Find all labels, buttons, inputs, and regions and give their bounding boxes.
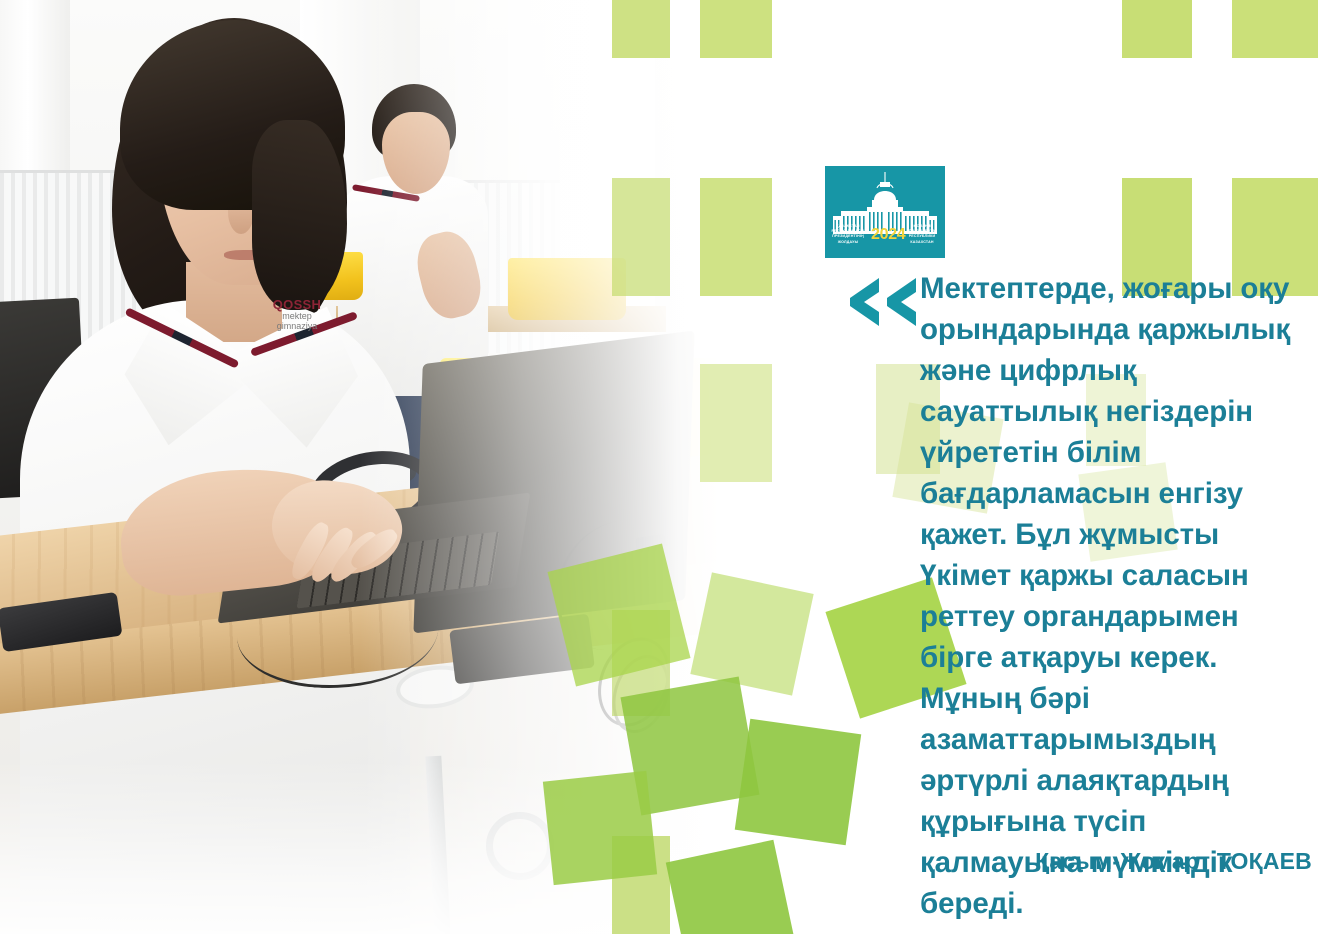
school-shirt-logo: QOSSH mektep gimnaziya xyxy=(258,298,336,354)
green-square xyxy=(1122,0,1192,58)
shirt-logo-line1: QOSSH xyxy=(258,298,336,312)
green-square xyxy=(700,0,772,58)
green-square xyxy=(612,0,670,58)
presidential-address-emblem: ҚАЗАҚСТАН РЕСПУБЛИКАСЫ ПРЕЗИДЕНТІНІҢ ЖОЛ… xyxy=(825,166,945,258)
green-square xyxy=(612,178,670,296)
green-square xyxy=(700,178,772,296)
green-square xyxy=(700,364,772,482)
quote-text: Мектептерде, жоғары оқу орындарында қарж… xyxy=(920,268,1312,924)
emblem-caption-russian: ПОСЛАНИЕ ПРЕЗИДЕНТА РЕСПУБЛИКИ КАЗАХСТАН xyxy=(905,224,939,245)
green-square-rotated xyxy=(735,719,861,845)
quote-poster: QOSSH mektep gimnaziya xyxy=(0,0,1318,934)
quote-author: Қасым-Жомарт ТОҚАЕВ xyxy=(820,848,1312,875)
green-square-rotated xyxy=(690,572,813,695)
quote-mark-icon xyxy=(846,276,922,328)
shirt-logo-line3: gimnaziya xyxy=(258,322,336,332)
green-square-rotated xyxy=(543,771,657,885)
emblem-year: 2024 xyxy=(871,226,905,244)
green-square xyxy=(1232,0,1318,58)
girl-hair-strand xyxy=(252,120,347,310)
emblem-caption-kazakh: ҚАЗАҚСТАН РЕСПУБЛИКАСЫ ПРЕЗИДЕНТІНІҢ ЖОЛ… xyxy=(831,224,865,245)
